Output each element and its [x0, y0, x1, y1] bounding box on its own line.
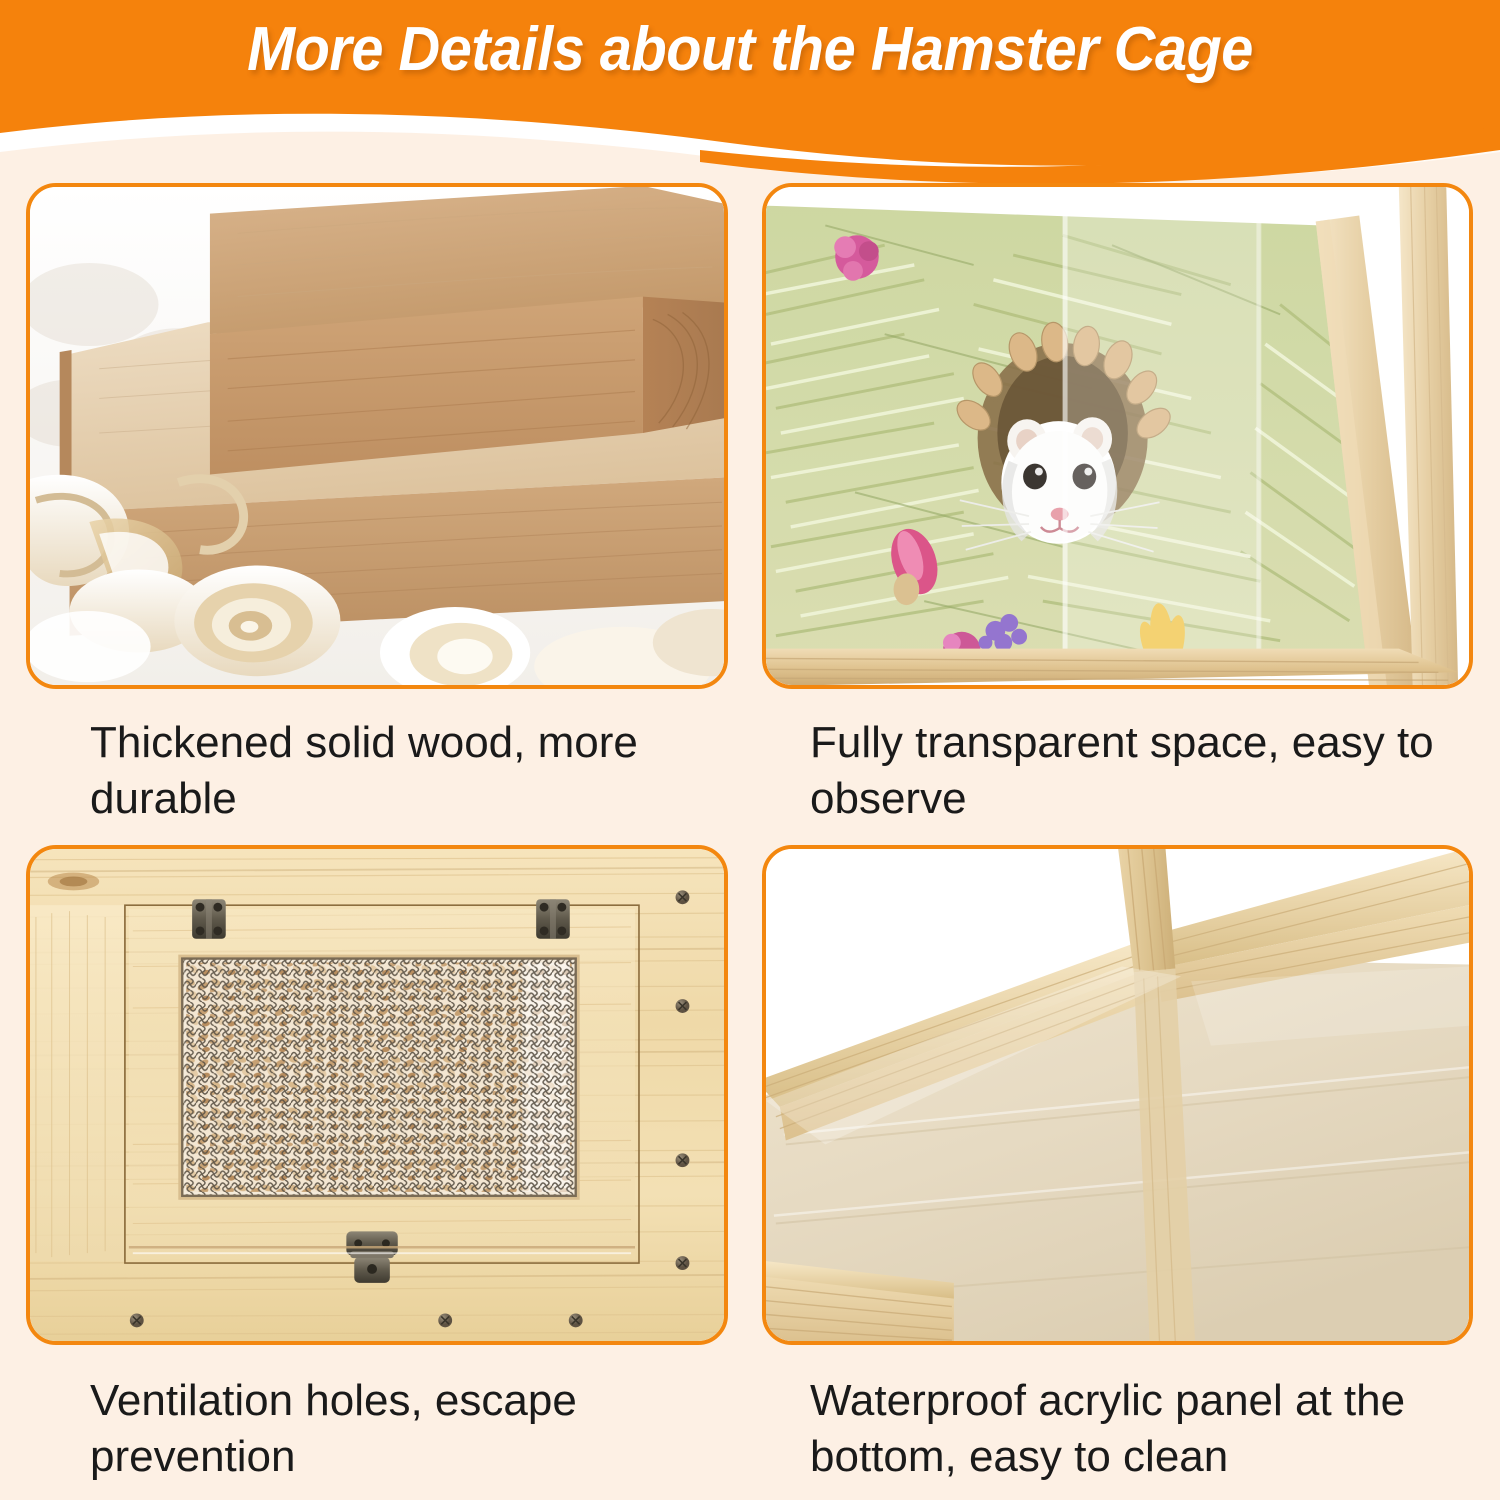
feature-card-waterproof-acrylic-panel: Waterproof acrylic panel at the bottom, …	[762, 845, 1473, 1500]
feature-card-thickened-solid-wood: Thickened solid wood, more durable	[26, 183, 728, 845]
feature-caption-ventilation-holes: Ventilation holes, escape prevention	[26, 1373, 728, 1486]
feature-grid: Thickened solid wood, more durable	[0, 183, 1500, 1500]
acrylic-bottom-corner-photo	[762, 845, 1473, 1345]
feature-caption-thickened-solid-wood: Thickened solid wood, more durable	[26, 715, 728, 828]
header-banner: More Details about the Hamster Cage	[0, 0, 1500, 185]
feature-caption-waterproof-acrylic-panel: Waterproof acrylic panel at the bottom, …	[762, 1373, 1473, 1486]
feature-card-ventilation-holes: Ventilation holes, escape prevention	[26, 845, 728, 1500]
hamster-in-hay-photo	[762, 183, 1473, 689]
page-title: More Details about the Hamster Cage	[53, 14, 1448, 85]
feature-card-fully-transparent-space: Fully transparent space, easy to observe	[762, 183, 1473, 845]
stacked-wood-blocks-photo	[26, 183, 728, 689]
ventilation-mesh-door-photo	[26, 845, 728, 1345]
feature-caption-fully-transparent-space: Fully transparent space, easy to observe	[762, 715, 1473, 828]
